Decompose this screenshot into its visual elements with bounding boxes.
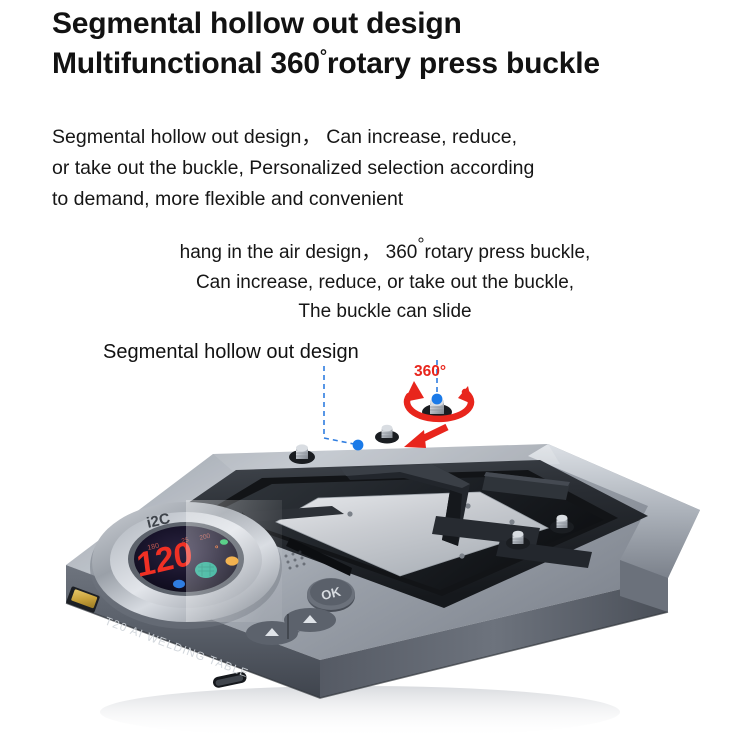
plate-hole bbox=[465, 503, 470, 508]
screw-mid bbox=[375, 425, 399, 444]
description-paragraph: Segmental hollow out design， Can increas… bbox=[52, 122, 732, 215]
paragraph-line-3: to demand, more flexible and convenient bbox=[52, 184, 732, 215]
degree-symbol-2: ° bbox=[417, 235, 424, 255]
circular-display-assembly[interactable]: i2C 120 ° 180 25 200 bbox=[90, 500, 282, 629]
plate-hole bbox=[347, 511, 352, 516]
center-line-1: hang in the air design， 360°rotary press… bbox=[150, 238, 620, 268]
screw-rotary bbox=[422, 398, 452, 420]
plate-hole bbox=[459, 553, 464, 558]
infographic-page: Segmental hollow out design Multifunctio… bbox=[0, 0, 750, 750]
ok-button[interactable]: OK bbox=[307, 578, 355, 612]
center-line-2: Can increase, reduce, or take out the bu… bbox=[150, 268, 620, 298]
headline-line-1: Segmental hollow out design bbox=[52, 4, 742, 44]
display-glare bbox=[186, 500, 282, 622]
product-illustration: i2C 120 ° 180 25 200 bbox=[0, 360, 750, 750]
screw-left bbox=[289, 444, 315, 464]
paragraph-line-2: or take out the buckle, Personalized sel… bbox=[52, 153, 732, 184]
headline-line-2: Multifunctional 360°rotary press buckle bbox=[52, 44, 742, 84]
page-title: Segmental hollow out design Multifunctio… bbox=[52, 4, 742, 84]
center-line-3: The buckle can slide bbox=[150, 297, 620, 327]
feature-center-text: hang in the air design， 360°rotary press… bbox=[150, 238, 620, 327]
plate-hole bbox=[509, 519, 514, 524]
headline-line-2-post: rotary press buckle bbox=[327, 47, 600, 80]
app-icon-blue[interactable] bbox=[173, 580, 185, 588]
paragraph-line-1: Segmental hollow out design， Can increas… bbox=[52, 122, 732, 153]
headline-line-2-pre: Multifunctional 360 bbox=[52, 47, 320, 80]
center-line-1-pre: hang in the air design， 360 bbox=[180, 242, 418, 263]
drop-shadow bbox=[100, 686, 620, 738]
degree-symbol: ° bbox=[320, 46, 327, 66]
center-line-1-post: rotary press buckle, bbox=[425, 242, 591, 263]
